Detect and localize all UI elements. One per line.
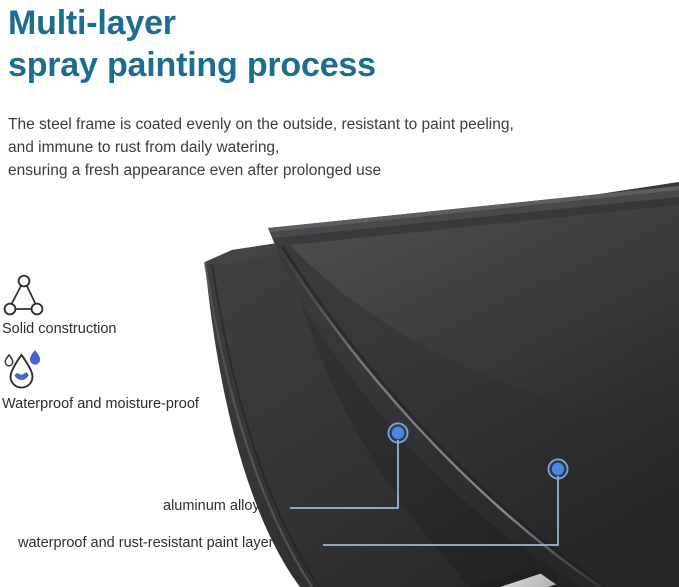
feature-list: Solid construction Waterproof and moistu… [0,272,199,422]
description-line-2: and immune to rust from daily watering, [8,136,658,159]
feature-item-waterproof: Waterproof and moisture-proof [0,347,199,412]
description-block: The steel frame is coated evenly on the … [8,113,658,182]
feature-label-waterproof: Waterproof and moisture-proof [2,396,199,412]
page-title: Multi-layer spray painting process [8,2,648,86]
description-line-1: The steel frame is coated evenly on the … [8,113,658,136]
title-line-2: spray painting process [8,44,648,86]
product-feature-page: Multi-layer spray painting process The s… [0,0,679,587]
feature-label-solid-construction: Solid construction [2,321,199,337]
triangle-nodes-icon [2,272,44,318]
feature-item-solid-construction: Solid construction [0,272,199,337]
description-line-3: ensuring a fresh appearance even after p… [8,159,658,182]
title-line-1: Multi-layer [8,2,648,44]
water-droplet-icon [2,347,44,393]
